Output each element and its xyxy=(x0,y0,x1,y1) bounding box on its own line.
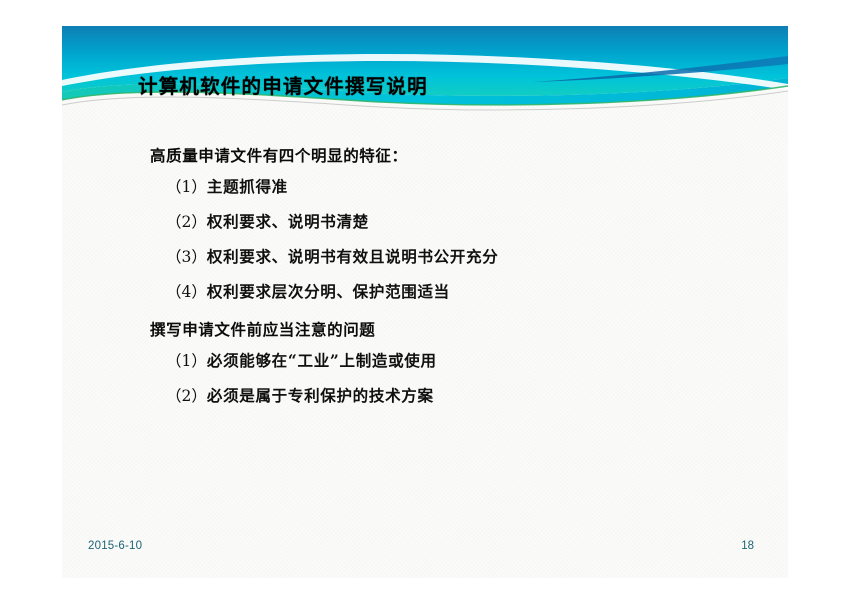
list-item: （1）必须能够在“工业”上制造或使用 xyxy=(166,349,788,371)
page-number: 18 xyxy=(741,540,754,552)
list-item-number: （4） xyxy=(166,283,207,301)
list-item: （2）必须是属于专利保护的技术方案 xyxy=(166,384,788,406)
list-item-number: （2） xyxy=(166,387,207,405)
slide-body: 高质量申请文件有四个明显的特征： （1）主题抓得准 （2）权利要求、说明书清楚 … xyxy=(62,144,788,419)
list-item-number: （1） xyxy=(166,352,207,370)
list-item: （1）主题抓得准 xyxy=(166,175,788,197)
list-item: （4）权利要求层次分明、保护范围适当 xyxy=(166,280,788,302)
list-item-label: 权利要求、说明书有效且说明书公开充分 xyxy=(207,247,499,266)
list-item-label: 必须是属于专利保护的技术方案 xyxy=(207,386,434,405)
section-heading: 高质量申请文件有四个明显的特征： xyxy=(150,144,788,166)
list-item-label: 主题抓得准 xyxy=(207,177,288,196)
wave-graphic-icon xyxy=(62,26,788,112)
list-item: （2）权利要求、说明书清楚 xyxy=(166,210,788,232)
slide-canvas: 计算机软件的申请文件撰写说明 高质量申请文件有四个明显的特征： （1）主题抓得准… xyxy=(62,26,788,578)
header-banner-decoration xyxy=(62,26,788,112)
list-item-label: 权利要求、说明书清楚 xyxy=(207,212,369,231)
list-item: （3）权利要求、说明书有效且说明书公开充分 xyxy=(166,245,788,267)
list-item-number: （2） xyxy=(166,213,207,231)
content-section-2: 撰写申请文件前应当注意的问题 （1）必须能够在“工业”上制造或使用 （2）必须是… xyxy=(62,318,788,406)
content-section-1: 高质量申请文件有四个明显的特征： （1）主题抓得准 （2）权利要求、说明书清楚 … xyxy=(62,144,788,302)
list-item-label: 必须能够在“工业”上制造或使用 xyxy=(207,351,437,370)
slide-footer: 2015-6-10 18 xyxy=(62,540,788,558)
list-item-number: （3） xyxy=(166,248,207,266)
footer-date: 2015-6-10 xyxy=(88,540,142,552)
list-item-number: （1） xyxy=(166,178,207,196)
list-item-label: 权利要求层次分明、保护范围适当 xyxy=(207,282,450,301)
page-title: 计算机软件的申请文件撰写说明 xyxy=(138,70,698,99)
section-heading: 撰写申请文件前应当注意的问题 xyxy=(150,318,788,340)
